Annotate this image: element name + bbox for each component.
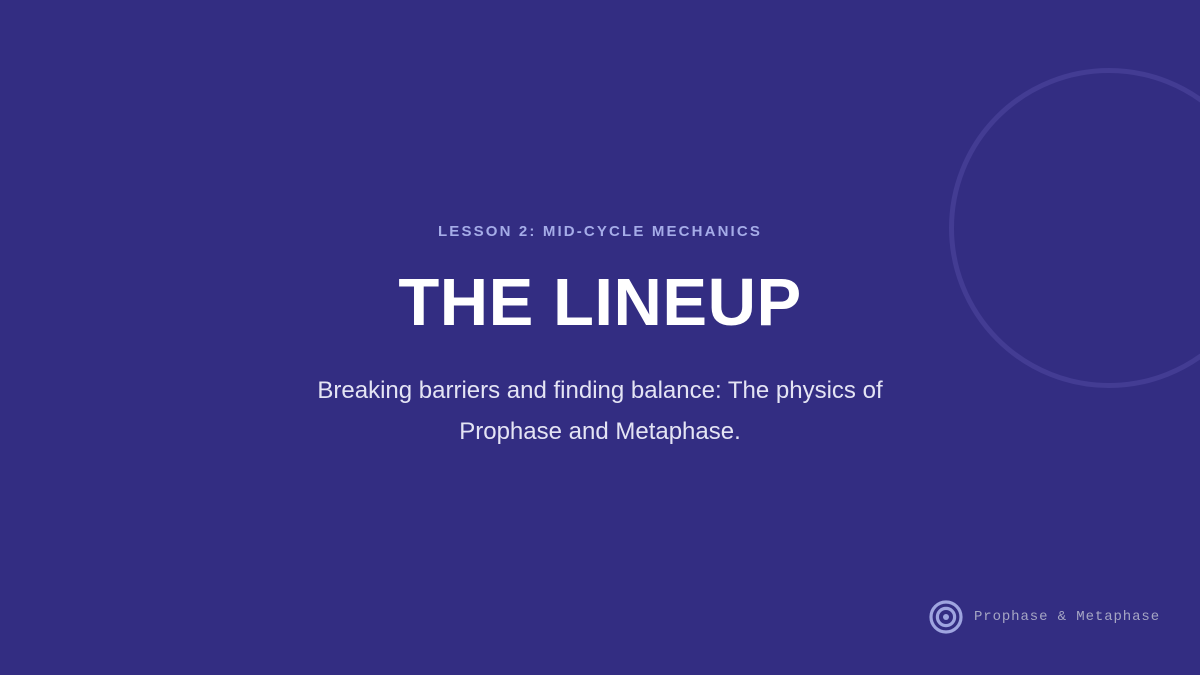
slide-subtitle: Breaking barriers and finding balance: T… [280, 370, 920, 452]
bullseye-icon [929, 600, 963, 634]
slide-content: LESSON 2: MID-CYCLE MECHANICS THE LINEUP… [0, 0, 1200, 675]
footer-badge: Prophase & Metaphase [929, 600, 1160, 634]
footer-label: Prophase & Metaphase [974, 610, 1160, 624]
bullseye-icon-svg [929, 600, 963, 634]
page-title: THE LINEUP [398, 269, 801, 336]
lesson-eyebrow: LESSON 2: MID-CYCLE MECHANICS [438, 224, 762, 239]
slide-root: LESSON 2: MID-CYCLE MECHANICS THE LINEUP… [0, 0, 1200, 675]
